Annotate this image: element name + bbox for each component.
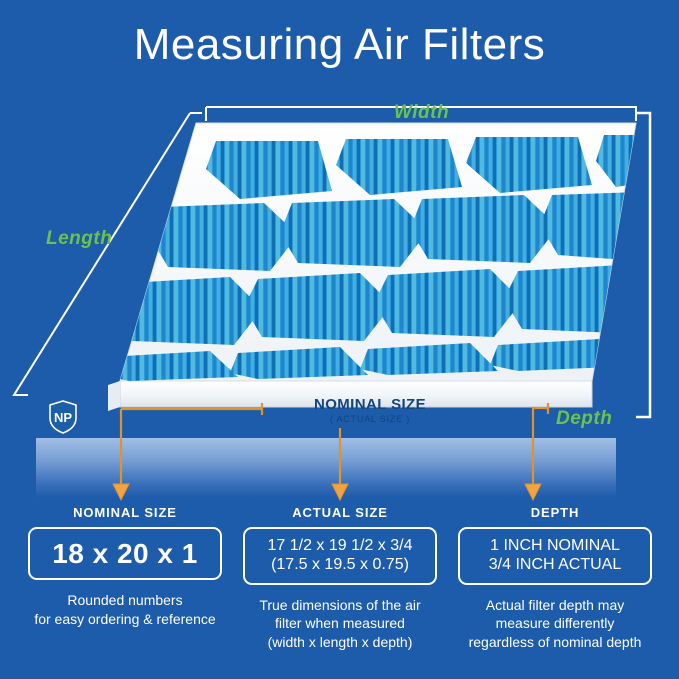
box-line: 3/4 INCH ACTUAL <box>464 556 646 575</box>
column-depth: DEPTH 1 INCH NOMINAL 3/4 INCH ACTUAL Act… <box>446 505 664 651</box>
caption-line: filter when measured <box>231 614 449 632</box>
box-line: 1 INCH NOMINAL <box>464 537 646 556</box>
caption-line: Rounded numbers <box>16 591 234 609</box>
infographic-canvas: Measuring Air Filters <box>0 0 679 679</box>
nominal-size-strip: NOMINAL SIZE ( ACTUAL SIZE ) <box>110 396 570 430</box>
actual-size-value-box: 17 1/2 x 19 1/2 x 3/4 (17.5 x 19.5 x 0.7… <box>243 527 437 585</box>
caption-line: measure differently <box>446 614 664 632</box>
column-nominal-size: NOMINAL SIZE 18 x 20 x 1 Rounded numbers… <box>16 505 234 628</box>
column-caption: Rounded numbers for easy ordering & refe… <box>16 591 234 628</box>
np-shield-logo: NP <box>48 400 78 434</box>
column-heading: DEPTH <box>446 505 664 520</box>
box-line: 17 1/2 x 19 1/2 x 3/4 <box>249 537 431 556</box>
column-caption: True dimensions of the air filter when m… <box>231 596 449 651</box>
length-label: Length <box>46 228 112 250</box>
actual-size-subheading: ( ACTUAL SIZE ) <box>270 414 470 424</box>
depth-dimension-bracket <box>636 113 650 417</box>
column-heading: ACTUAL SIZE <box>231 505 449 520</box>
caption-line: True dimensions of the air <box>231 596 449 614</box>
nominal-size-value-box: 18 x 20 x 1 <box>28 527 222 580</box>
page-title: Measuring Air Filters <box>0 20 679 70</box>
column-actual-size: ACTUAL SIZE 17 1/2 x 19 1/2 x 3/4 (17.5 … <box>231 505 449 651</box>
caption-line: Actual filter depth may <box>446 596 664 614</box>
caption-line: for easy ordering & reference <box>16 610 234 628</box>
np-logo-text: NP <box>54 410 72 425</box>
column-caption: Actual filter depth may measure differen… <box>446 596 664 651</box>
filter-reflection <box>36 438 616 498</box>
box-line: 18 x 20 x 1 <box>34 537 216 570</box>
column-heading: NOMINAL SIZE <box>16 505 234 520</box>
nominal-size-heading: NOMINAL SIZE <box>270 396 470 413</box>
caption-line: regardless of nominal depth <box>446 633 664 651</box>
box-line: (17.5 x 19.5 x 0.75) <box>249 556 431 575</box>
caption-line: (width x length x depth) <box>231 633 449 651</box>
air-filter-illustration <box>0 95 679 445</box>
width-label: Width <box>394 102 449 124</box>
depth-value-box: 1 INCH NOMINAL 3/4 INCH ACTUAL <box>458 527 652 585</box>
